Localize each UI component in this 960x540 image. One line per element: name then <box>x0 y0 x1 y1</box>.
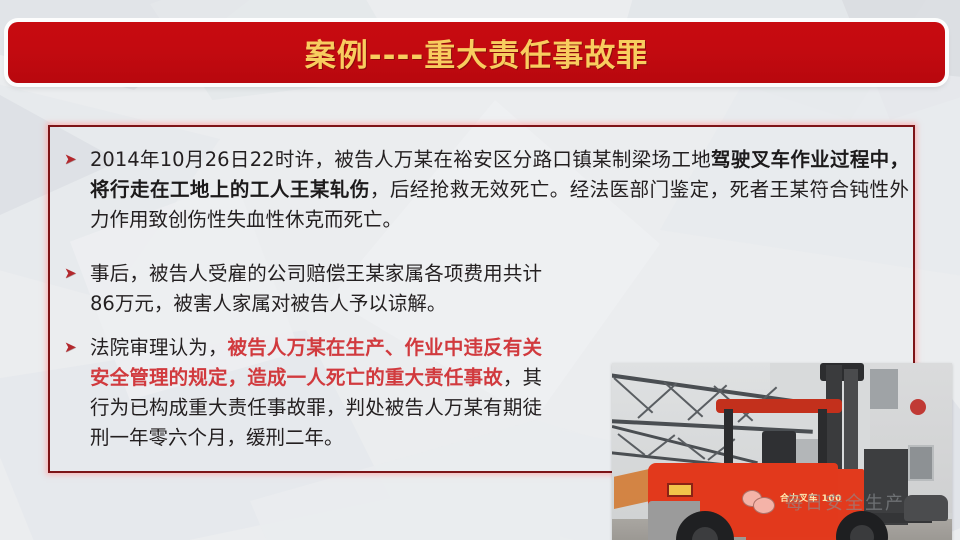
paragraph-court-ruling: 法院审理认为，被告人万某在生产、作业中违反有关安全管理的规定，造成一人死亡的重大… <box>90 333 542 453</box>
wechat-icon <box>742 490 776 514</box>
run-text: 事后，被告人受雇的公司赔偿王某家属各项费用共计86万元，被害人家属对被告人予以谅… <box>90 262 542 315</box>
run-text: 2014年10月26日22时许，被告人万某在裕安区分路口镇某制梁场工地 <box>90 148 711 171</box>
paragraph-compensation: 事后，被告人受雇的公司赔偿王某家属各项费用共计86万元，被害人家属对被告人予以谅… <box>90 259 542 319</box>
page-title: 案例----重大责任事故罪 <box>305 30 648 75</box>
arrow-bullet-icon: ➤ <box>64 145 90 167</box>
watermark-label: 每日安全生产 <box>785 489 905 515</box>
slide-canvas: 案例----重大责任事故罪 ➤ 2014年10月26日22时许，被告人万某在裕安… <box>0 0 960 540</box>
list-item: ➤ 事后，被告人受雇的公司赔偿王某家属各项费用共计86万元，被害人家属对被告人予… <box>64 259 909 319</box>
content-box: ➤ 2014年10月26日22时许，被告人万某在裕安区分路口镇某制梁场工地驾驶叉… <box>48 125 915 473</box>
watermark: 每日安全生产 <box>742 489 905 515</box>
run-text: 法院审理认为， <box>90 336 228 359</box>
arrow-bullet-icon: ➤ <box>64 333 90 355</box>
arrow-bullet-icon: ➤ <box>64 259 90 281</box>
paragraph-case-facts: 2014年10月26日22时许，被告人万某在裕安区分路口镇某制梁场工地驾驶叉车作… <box>90 145 909 235</box>
list-item: ➤ 2014年10月26日22时许，被告人万某在裕安区分路口镇某制梁场工地驾驶叉… <box>64 145 909 235</box>
title-banner: 案例----重大责任事故罪 <box>8 22 945 83</box>
